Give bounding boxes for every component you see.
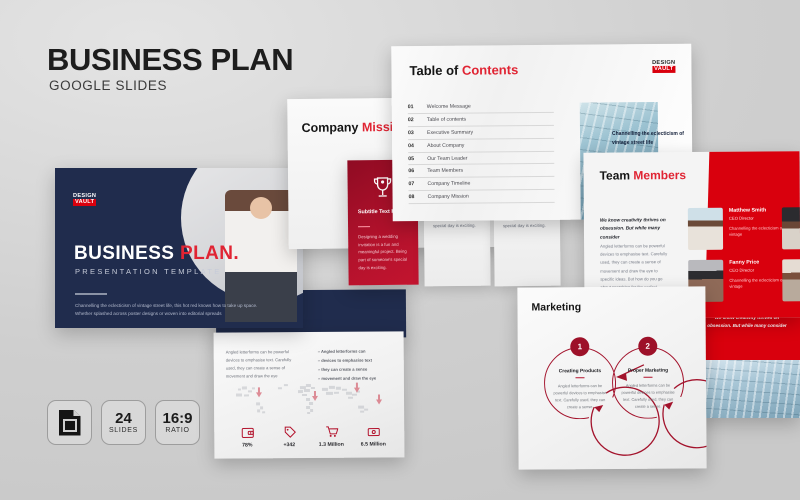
toc-label: About Company xyxy=(427,142,464,148)
toc-label: Company Mission xyxy=(428,194,469,200)
step-body: Angled letterforms can be powerful devic… xyxy=(621,382,675,411)
stats-left-paragraph: Angled letterforms can be powerful devic… xyxy=(226,348,302,380)
cover-title: BUSINESS PLAN. xyxy=(74,243,239,265)
team-lead-text: We know creativity thrives on obsession.… xyxy=(600,216,668,242)
money-icon xyxy=(352,423,394,438)
toc-row[interactable]: 08Company Mission xyxy=(409,190,555,204)
list-item: Angled letterforms can xyxy=(318,347,392,355)
toc-number: 05 xyxy=(408,156,418,162)
divider xyxy=(358,226,370,228)
list-item: devices to emphasise text xyxy=(318,356,392,364)
glass-building-photo xyxy=(694,360,800,418)
red-card-body: Designing a wedding invitation is a fun … xyxy=(358,233,408,272)
stat-item: +342 xyxy=(268,424,310,448)
member-name: Fanny Price xyxy=(729,259,785,265)
toc-row[interactable]: 03Executive Summary xyxy=(408,126,554,140)
cart-icon xyxy=(310,424,352,439)
member-description: Channelling the eclecticism of vintage xyxy=(729,277,785,291)
stat-item: 1.3 Million xyxy=(310,424,352,448)
toc-number: 07 xyxy=(408,181,418,187)
toc-label: Team Members xyxy=(427,168,463,174)
badge-slides-count: 24 SLIDES xyxy=(101,400,146,445)
step-heading: Creating Products xyxy=(544,369,616,375)
page-subtitle: GOOGLE SLIDES xyxy=(49,78,167,93)
member-name: Matthew Smith xyxy=(729,207,785,213)
avatar xyxy=(782,207,800,249)
divider xyxy=(643,377,652,378)
toc-caption: Channelling the eclecticism of vintage s… xyxy=(612,130,692,148)
design-vault-logo: DESIGN VAULT xyxy=(652,60,675,73)
toc-row[interactable]: 07Company Timeline xyxy=(408,177,554,191)
toc-row[interactable]: 04About Company xyxy=(408,139,554,153)
badge-aspect-ratio: 16:9 RATIO xyxy=(155,400,200,445)
step-heading: Proper Marketing xyxy=(612,368,684,374)
slide-marketing[interactable]: Marketing 1 Creating Products Angled let… xyxy=(517,286,706,469)
toc-row[interactable]: 02Table of contents xyxy=(408,113,554,127)
marketing-step[interactable]: 2 Proper Marketing Angled letterforms ca… xyxy=(612,346,685,419)
slides-count-label: SLIDES xyxy=(109,427,138,434)
tag-icon xyxy=(268,424,310,439)
toc-row[interactable]: 01Welcome Message xyxy=(408,100,554,114)
step-number: 1 xyxy=(570,337,589,356)
cover-subtitle: PRESENTATION TEMPLATE xyxy=(75,267,222,276)
design-vault-logo: DESIGN VAULT xyxy=(73,193,96,206)
toc-number: 03 xyxy=(408,130,418,136)
slides-file-icon xyxy=(59,410,81,436)
wallet-icon xyxy=(226,424,268,439)
marketing-title: Marketing xyxy=(531,301,581,313)
toc-row[interactable]: 06Team Members xyxy=(408,164,554,178)
avatar xyxy=(782,259,800,301)
team-title-main: Team xyxy=(600,168,634,182)
stat-value: 78% xyxy=(226,442,268,448)
member-description: Channelling the eclecticism of vintage xyxy=(729,225,785,239)
stat-item: 6.5 Million xyxy=(352,423,394,447)
toc-label: Company Timeline xyxy=(427,181,470,187)
team-member-card[interactable]: Matthew Smith CEO Director Channelling t… xyxy=(688,207,785,250)
stat-value: +342 xyxy=(268,442,310,448)
toc-label: Our Team Leader xyxy=(427,155,467,161)
slide-business-plan-cover[interactable]: DESIGN VAULT BUSINESS PLAN. PRESENTATION… xyxy=(55,168,303,328)
team-member-card[interactable] xyxy=(782,207,800,249)
toc-title-main: Table of xyxy=(409,63,462,78)
step-number: 2 xyxy=(638,337,657,356)
toc-row[interactable]: 05Our Team Leader xyxy=(408,151,554,165)
spec-badges: 24 SLIDES 16:9 RATIO xyxy=(47,400,200,445)
toc-number: 08 xyxy=(409,194,419,200)
divider xyxy=(575,377,584,378)
toc-number: 01 xyxy=(408,104,418,110)
toc-label: Executive Summary xyxy=(427,129,473,135)
ratio-value: 16:9 xyxy=(162,411,192,427)
stat-value: 1.3 Million xyxy=(310,442,352,448)
stats-row: 78% +342 1.3 Million 6.5 Million xyxy=(226,423,394,448)
cover-body-text: Channelling the eclecticism of vintage s… xyxy=(75,302,275,319)
toc-number: 04 xyxy=(408,143,418,149)
toc-list: 01Welcome Message 02Table of contents 03… xyxy=(408,100,555,204)
team-title-accent: Members xyxy=(633,168,686,182)
toc-title-accent: Contents xyxy=(462,62,518,77)
slides-count-value: 24 xyxy=(115,411,132,427)
stat-item: 78% xyxy=(226,424,268,448)
member-role: CEO Director xyxy=(729,215,785,220)
cover-title-main: BUSINESS xyxy=(74,243,180,264)
avatar xyxy=(688,208,723,250)
step-body: Angled letterforms can be powerful devic… xyxy=(553,382,607,411)
marketing-step[interactable]: 1 Creating Products Angled letterforms c… xyxy=(544,347,617,420)
page-title: BUSINESS PLAN xyxy=(47,42,293,78)
toc-number: 06 xyxy=(408,168,418,174)
presentation-mockup-canvas: BUSINESS PLAN GOOGLE SLIDES 24 SLIDES 16… xyxy=(0,0,800,500)
team-member-card[interactable] xyxy=(782,259,800,301)
cover-title-accent: PLAN. xyxy=(180,243,239,264)
toc-title: Table of Contents xyxy=(409,62,518,78)
list-item: they can create a sense xyxy=(318,365,392,373)
toc-label: Welcome Message xyxy=(427,104,471,110)
divider xyxy=(75,293,107,295)
member-role: CEO Director xyxy=(729,267,785,272)
toc-number: 02 xyxy=(408,117,418,123)
toc-label: Table of contents xyxy=(427,116,466,122)
stat-value: 6.5 Million xyxy=(352,441,394,447)
badge-file-type xyxy=(47,400,92,445)
slide-statistics[interactable]: Angled letterforms can be powerful devic… xyxy=(214,331,405,458)
team-title: Team Members xyxy=(600,168,687,183)
world-map-graphic xyxy=(226,377,392,420)
mission-title-main: Company xyxy=(301,120,362,135)
ratio-label: RATIO xyxy=(165,427,189,434)
